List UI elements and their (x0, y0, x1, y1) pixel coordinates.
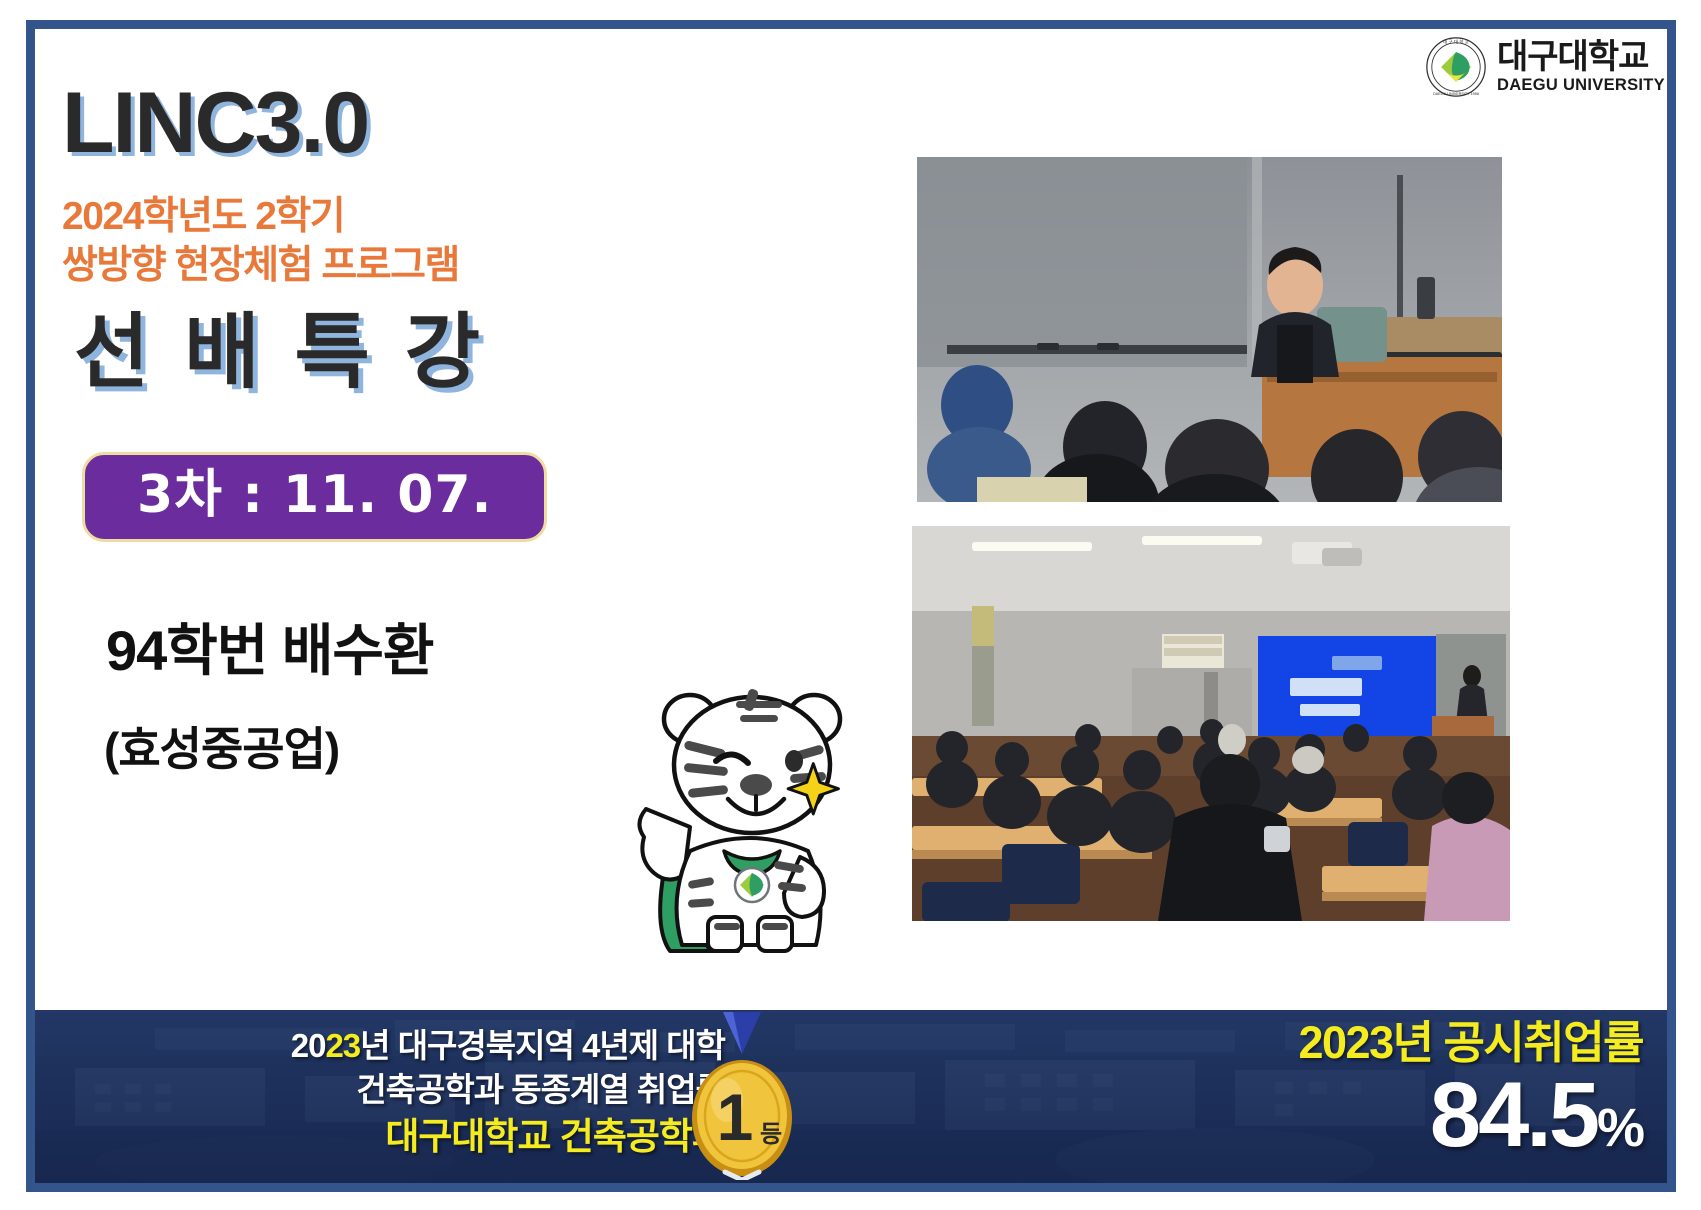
tiger-mascot (628, 665, 874, 955)
stat-value-unit: % (1597, 1098, 1643, 1158)
stat-value-number: 84.5 (1430, 1064, 1597, 1166)
lecture-photo-speaker (917, 157, 1502, 502)
year-prefix: 20 (291, 1027, 326, 1064)
line-1-rest: 년 대구경북지역 4년제 대학 (360, 1027, 725, 1064)
main-title: 선 배 특 강 (62, 308, 862, 398)
daegu-university-emblem-icon: 대 구 대 학 교 DAEGU UNIVERSITY 1956 (1425, 36, 1487, 98)
medal-rank-unit: 등 (760, 1120, 782, 1148)
banner-left-text: 2023년 대구경북지역 4년제 대학 건축공학과 동종계열 취업률 대구대학교… (85, 1024, 725, 1162)
program-subtitle: 2024학년도 2학기 쌍방향 현장체험 프로그램 (62, 192, 862, 290)
banner-line-2: 건축공학과 동종계열 취업률 (85, 1068, 725, 1112)
logo-wordmark: 대구대학교 DAEGU UNIVERSITY (1497, 40, 1665, 94)
logo-name-en: DAEGU UNIVERSITY (1497, 77, 1665, 94)
lecture-photo-classroom (912, 526, 1510, 921)
medal-rank-number: 1 (717, 1080, 754, 1154)
first-place-medal-icon: 1 등 (687, 1012, 797, 1180)
banner-right-stat: 2023년 공시취업률 84.5% (1298, 1020, 1643, 1161)
subtitle-line-1: 2024학년도 2학기 (62, 192, 862, 241)
subtitle-line-2: 쌍방향 현장체험 프로그램 (62, 241, 862, 290)
stat-label: 2023년 공시취업률 (1298, 1020, 1643, 1065)
stat-value-group: 84.5% (1298, 1069, 1643, 1161)
bottom-stats-banner: 2023년 대구경북지역 4년제 대학 건축공학과 동종계열 취업률 대구대학교… (35, 1010, 1667, 1183)
photo-1-image (917, 157, 1502, 502)
year-highlight: 23 (325, 1027, 360, 1064)
banner-line-3-department: 대구대학교 건축공학과 (85, 1112, 725, 1162)
banner-line-1: 2023년 대구경북지역 4년제 대학 (85, 1024, 725, 1068)
session-date-badge: 3차 : 11. 07. (82, 452, 547, 542)
poster-root: 대 구 대 학 교 DAEGU UNIVERSITY 1956 대구대학교 DA… (0, 0, 1701, 1210)
photo-2-image (912, 526, 1510, 921)
university-logo: 대 구 대 학 교 DAEGU UNIVERSITY 1956 대구대학교 DA… (1425, 36, 1665, 98)
svg-text:DAEGU UNIVERSITY 1956: DAEGU UNIVERSITY 1956 (1433, 92, 1479, 96)
logo-name-ko: 대구대학교 (1497, 40, 1648, 74)
program-title: LINC3.0 (62, 80, 862, 166)
